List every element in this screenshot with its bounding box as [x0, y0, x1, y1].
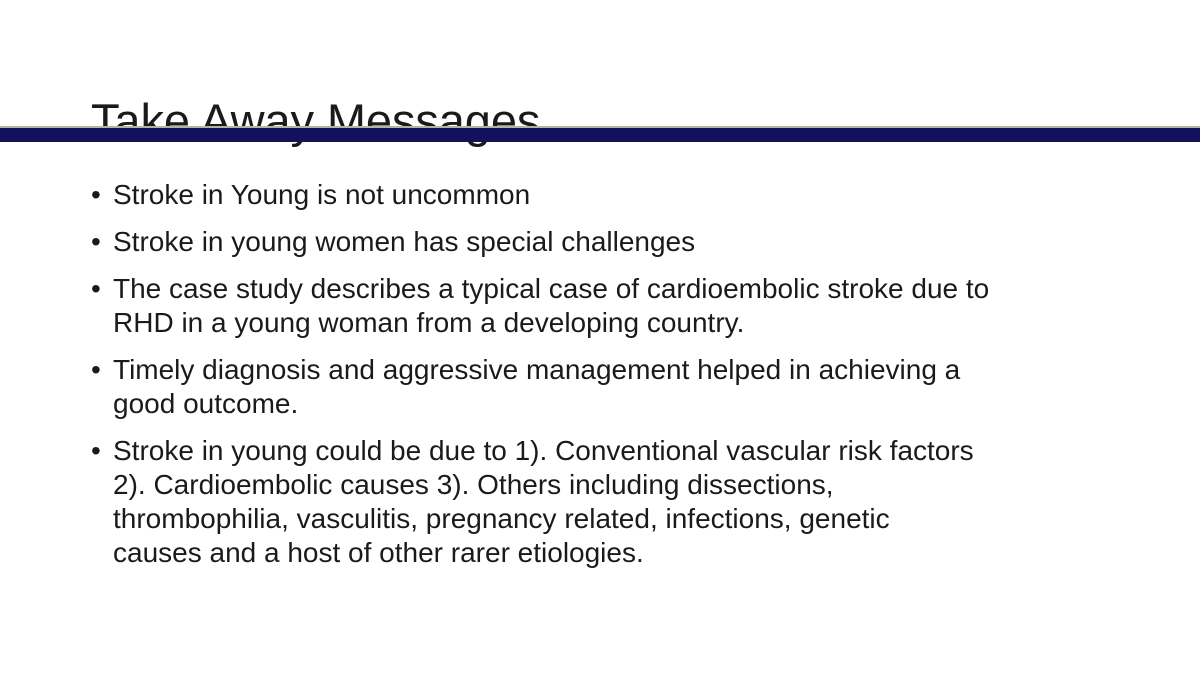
- list-item-line: RHD in a young woman from a developing c…: [113, 306, 1109, 340]
- bullet-point-icon: •: [91, 353, 109, 387]
- list-item: • Stroke in young women has special chal…: [89, 225, 1109, 259]
- title-divider: [0, 126, 1200, 142]
- bullet-point-icon: •: [91, 178, 109, 212]
- list-item-text: Stroke in Young is not uncommon: [113, 178, 1109, 212]
- bullet-point-icon: •: [91, 272, 109, 306]
- list-item: • Stroke in young could be due to 1). Co…: [89, 434, 1109, 570]
- list-item-text: Stroke in young could be due to 1). Conv…: [113, 434, 1109, 570]
- list-item-text: Timely diagnosis and aggressive manageme…: [113, 353, 1109, 421]
- list-item-line: 2). Cardioembolic causes 3). Others incl…: [113, 468, 1109, 502]
- bullet-point-icon: •: [91, 434, 109, 468]
- divider-bar: [0, 128, 1200, 142]
- list-item-line: Stroke in young women has special challe…: [113, 225, 1109, 259]
- list-item-text: Stroke in young women has special challe…: [113, 225, 1109, 259]
- list-item-line: thrombophilia, vasculitis, pregnancy rel…: [113, 502, 1109, 536]
- list-item-line: The case study describes a typical case …: [113, 272, 1109, 306]
- list-item-line: causes and a host of other rarer etiolog…: [113, 536, 1109, 570]
- list-item: • Timely diagnosis and aggressive manage…: [89, 353, 1109, 421]
- list-item-line: Timely diagnosis and aggressive manageme…: [113, 353, 1109, 387]
- list-item-line: Stroke in young could be due to 1). Conv…: [113, 434, 1109, 468]
- list-item-text: The case study describes a typical case …: [113, 272, 1109, 340]
- slide: Take Away Messages • Stroke in Young is …: [0, 0, 1200, 675]
- list-item-line: Stroke in Young is not uncommon: [113, 178, 1109, 212]
- list-item: • The case study describes a typical cas…: [89, 272, 1109, 340]
- bullet-point-icon: •: [91, 225, 109, 259]
- bullet-list: • Stroke in Young is not uncommon • Stro…: [89, 178, 1109, 570]
- list-item-line: good outcome.: [113, 387, 1109, 421]
- list-item: • Stroke in Young is not uncommon: [89, 178, 1109, 212]
